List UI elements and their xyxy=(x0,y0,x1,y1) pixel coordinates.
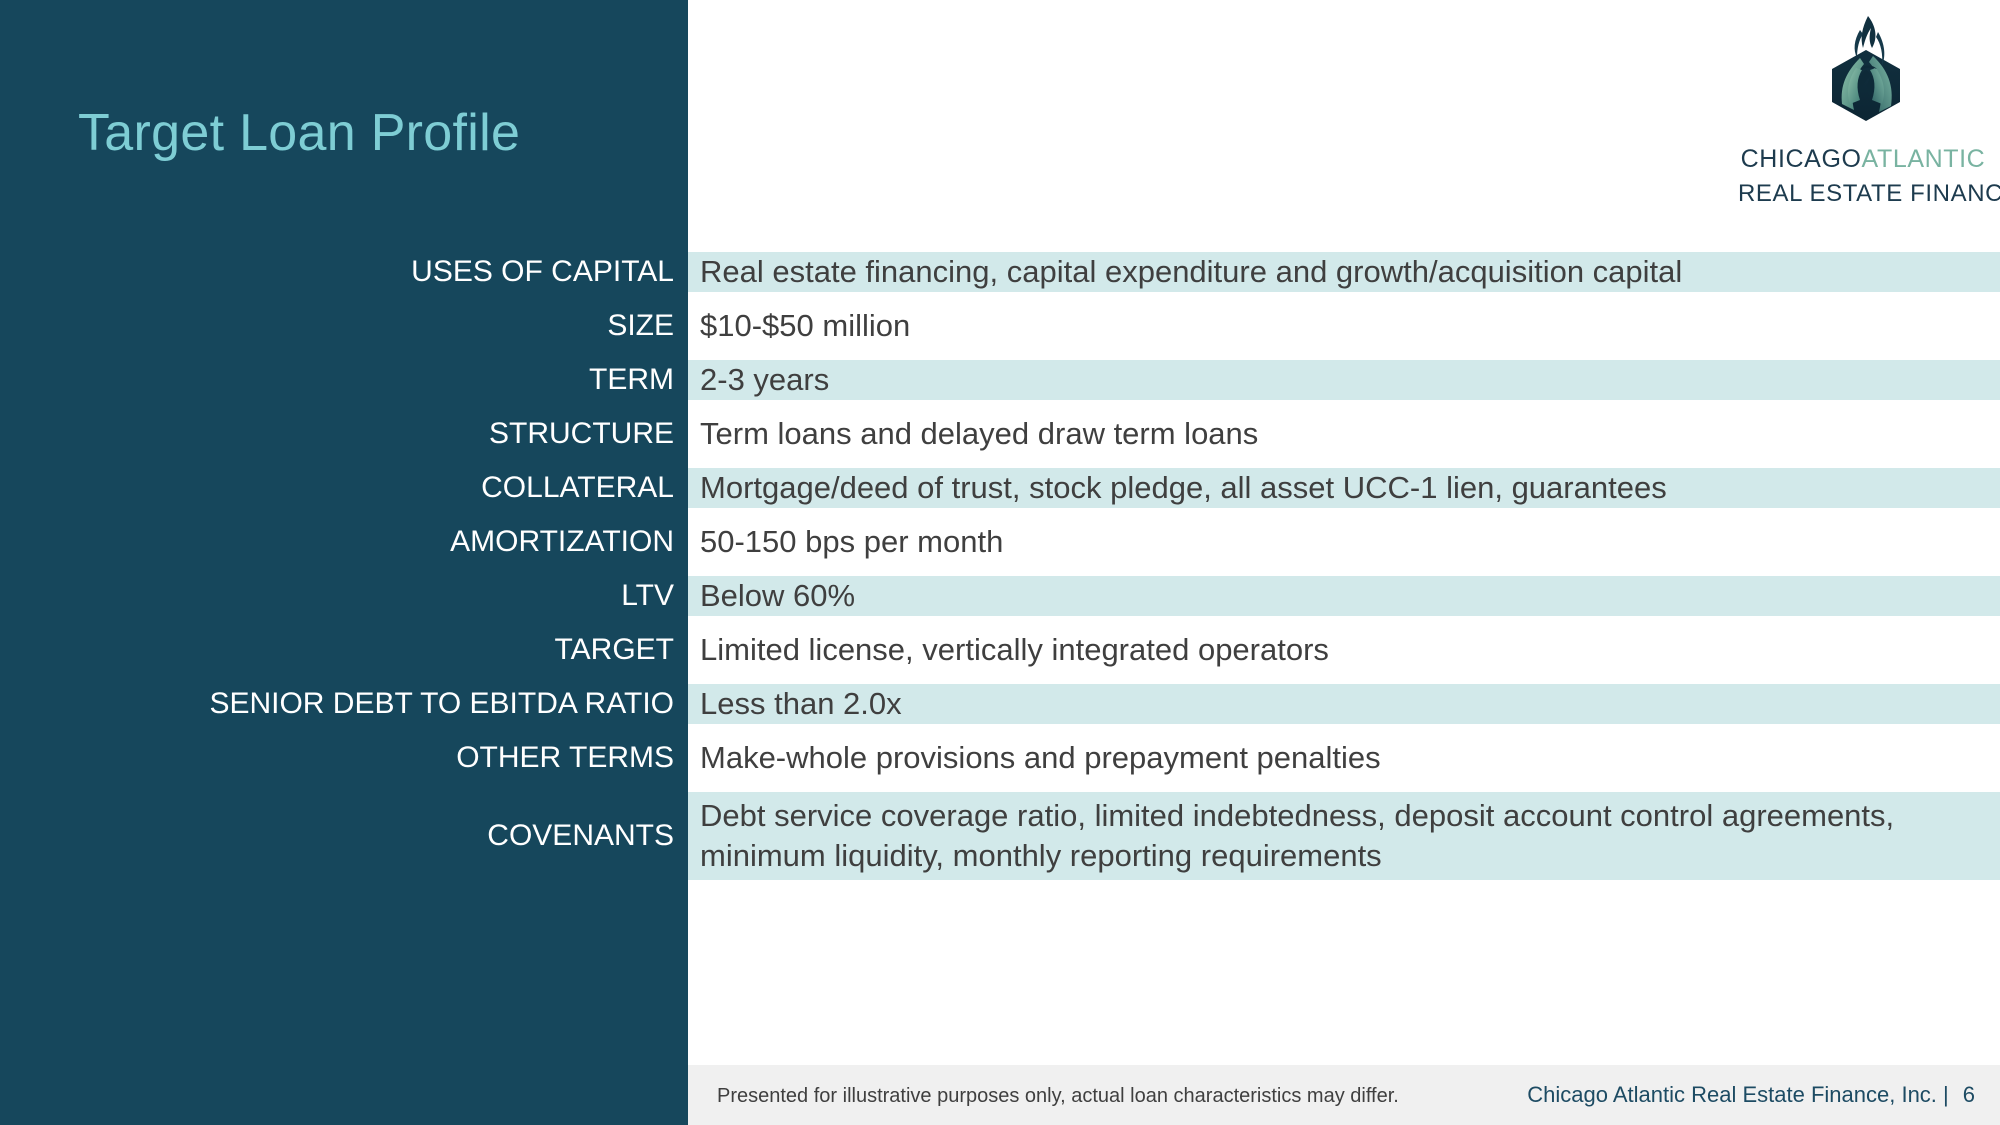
table-row: TARGET Limited license, vertically integ… xyxy=(0,630,2000,670)
row-label: SENIOR DEBT TO EBITDA RATIO xyxy=(0,684,674,724)
row-divider xyxy=(674,360,688,400)
row-spacer xyxy=(0,346,2000,360)
row-value: Mortgage/deed of trust, stock pledge, al… xyxy=(688,468,2000,508)
row-divider xyxy=(674,576,688,616)
row-label: OTHER TERMS xyxy=(0,738,674,778)
row-spacer xyxy=(0,562,2000,576)
row-spacer xyxy=(0,400,2000,414)
table-row: STRUCTURE Term loans and delayed draw te… xyxy=(0,414,2000,454)
row-spacer xyxy=(0,670,2000,684)
row-value: $10-$50 million xyxy=(688,306,2000,346)
loan-profile-table: USES OF CAPITAL Real estate financing, c… xyxy=(0,252,2000,880)
row-value: 2-3 years xyxy=(688,360,2000,400)
row-value: Real estate financing, capital expenditu… xyxy=(688,252,2000,292)
row-value: Limited license, vertically integrated o… xyxy=(688,630,2000,670)
table-row: TERM 2-3 years xyxy=(0,360,2000,400)
row-label: STRUCTURE xyxy=(0,414,674,454)
row-value: Less than 2.0x xyxy=(688,684,2000,724)
row-label: COLLATERAL xyxy=(0,468,674,508)
table-row: OTHER TERMS Make-whole provisions and pr… xyxy=(0,738,2000,778)
row-divider xyxy=(674,684,688,724)
row-value: Below 60% xyxy=(688,576,2000,616)
chicago-atlantic-flame-icon xyxy=(1816,14,1916,124)
row-divider xyxy=(674,306,688,346)
row-divider xyxy=(674,522,688,562)
table-row: SIZE $10-$50 million xyxy=(0,306,2000,346)
row-spacer xyxy=(0,724,2000,738)
page-number: 6 xyxy=(1963,1082,1975,1107)
slide: Target Loan Profile xyxy=(0,0,2000,1125)
row-divider xyxy=(674,738,688,778)
row-divider xyxy=(674,630,688,670)
table-row: AMORTIZATION 50-150 bps per month xyxy=(0,522,2000,562)
table-row: COVENANTS Debt service coverage ratio, l… xyxy=(0,792,2000,880)
row-label: TARGET xyxy=(0,630,674,670)
row-value: Make-whole provisions and prepayment pen… xyxy=(688,738,2000,778)
row-divider xyxy=(674,468,688,508)
footer-disclaimer: Presented for illustrative purposes only… xyxy=(717,1085,1399,1108)
table-row: USES OF CAPITAL Real estate financing, c… xyxy=(0,252,2000,292)
row-spacer xyxy=(0,454,2000,468)
row-value: Term loans and delayed draw term loans xyxy=(688,414,2000,454)
logo-word-chicago: CHICAGO xyxy=(1741,145,1862,173)
footer-company-name: Chicago Atlantic Real Estate Finance, In… xyxy=(1527,1082,1949,1107)
row-label: COVENANTS xyxy=(0,792,674,880)
row-label: TERM xyxy=(0,360,674,400)
company-logo: CHICAGOATLANTIC REAL ESTATE FINANCE xyxy=(1738,14,1988,189)
row-spacer xyxy=(0,292,2000,306)
page-title: Target Loan Profile xyxy=(78,103,520,163)
row-label: AMORTIZATION xyxy=(0,522,674,562)
row-divider xyxy=(674,252,688,292)
row-divider xyxy=(674,414,688,454)
footer-company-and-page: Chicago Atlantic Real Estate Finance, In… xyxy=(1527,1082,1975,1108)
row-label: LTV xyxy=(0,576,674,616)
table-row: LTV Below 60% xyxy=(0,576,2000,616)
row-value: Debt service coverage ratio, limited ind… xyxy=(688,792,2000,880)
row-divider xyxy=(674,792,688,880)
row-spacer xyxy=(0,508,2000,522)
row-spacer xyxy=(0,616,2000,630)
logo-word-atlantic: ATLANTIC xyxy=(1862,145,1986,173)
row-spacer xyxy=(0,778,2000,792)
table-row: SENIOR DEBT TO EBITDA RATIO Less than 2.… xyxy=(0,684,2000,724)
row-label: SIZE xyxy=(0,306,674,346)
table-row: COLLATERAL Mortgage/deed of trust, stock… xyxy=(0,468,2000,508)
logo-wordmark: CHICAGOATLANTIC xyxy=(1738,147,1988,172)
row-label: USES OF CAPITAL xyxy=(0,252,674,292)
row-value: 50-150 bps per month xyxy=(688,522,2000,562)
logo-subtitle: REAL ESTATE FINANCE xyxy=(1738,182,1988,206)
